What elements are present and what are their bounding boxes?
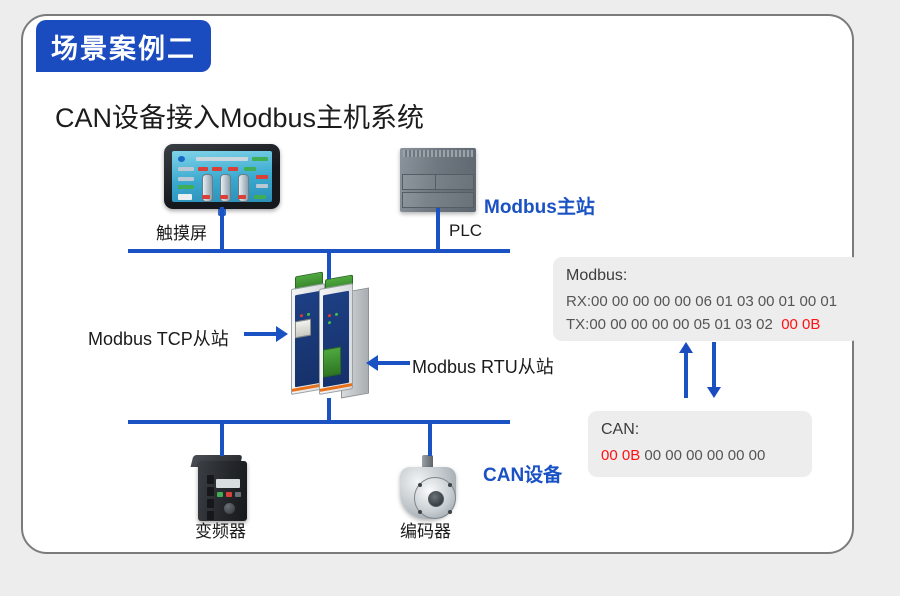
can-panel-title: CAN: — [601, 421, 799, 439]
upper-bus-line — [128, 249, 510, 253]
can-highlight: 00 0B — [601, 447, 640, 464]
lower-bus-line — [128, 420, 510, 424]
gateway-upper-drop-line — [327, 249, 331, 279]
encoder-label: 编码器 — [400, 517, 451, 542]
can-data-panel: CAN: 00 0B 00 00 00 00 00 00 — [588, 411, 812, 477]
modbus-tx-label: TX: — [566, 316, 589, 333]
gateway-lower-drop-line — [327, 398, 331, 422]
encoder-hub — [428, 491, 444, 507]
modbus-rx-row: RX:00 00 00 00 00 06 01 03 00 01 00 01 — [566, 290, 847, 313]
rtu-arrow-head-icon — [366, 355, 378, 371]
can-value: 00 00 00 00 00 00 — [644, 447, 765, 464]
tcp-arrow-shaft — [244, 332, 278, 336]
modbus-panel-title: Modbus: — [566, 267, 847, 285]
vfd-drive-icon — [192, 455, 247, 521]
scenario-badge-label: 场景案例二 — [51, 27, 196, 66]
rtu-arrow-shaft — [378, 361, 410, 365]
rotary-encoder-icon — [398, 455, 462, 521]
plc-module-icon — [400, 148, 476, 212]
plc-drop-line — [436, 208, 440, 251]
plc-vent — [403, 150, 473, 157]
protocol-gateway-icon — [283, 276, 375, 402]
scenario-badge: 场景案例二 — [36, 20, 211, 72]
modbus-data-panel: Modbus: RX:00 00 00 00 00 06 01 03 00 01… — [553, 257, 860, 341]
modbus-rx-value: 00 00 00 00 00 06 01 03 00 01 00 01 — [591, 293, 837, 310]
modbus-rtu-slave-annotation: Modbus RTU从站 — [412, 353, 554, 379]
modbus-master-annotation: Modbus主站 — [484, 192, 595, 219]
vfd-display — [216, 479, 240, 488]
encoder-drop-line — [428, 420, 432, 456]
gateway-field-connector — [323, 346, 341, 377]
gateway-module-2 — [319, 283, 353, 395]
page-title: CAN设备接入Modbus主机系统 — [55, 96, 424, 135]
up-arrow-shaft — [684, 352, 688, 398]
vfd-drop-line — [220, 420, 224, 456]
plc-label: PLC — [449, 221, 482, 241]
can-data-row: 00 0B 00 00 00 00 00 00 — [601, 444, 799, 467]
modbus-tx-row: TX:00 00 00 00 00 05 01 03 02 00 0B — [566, 313, 847, 336]
modbus-tx-highlight: 00 0B — [781, 316, 820, 333]
hmi-screen — [172, 151, 272, 202]
arrow-up-icon — [679, 342, 693, 353]
hmi-drop-line — [220, 207, 224, 251]
modbus-tx-value: 00 00 00 00 00 05 01 03 02 — [589, 316, 773, 333]
down-arrow-shaft — [712, 342, 716, 388]
arrow-down-icon — [707, 387, 721, 398]
vfd-knob — [224, 503, 235, 514]
can-device-annotation: CAN设备 — [483, 460, 562, 487]
vfd-body — [198, 461, 247, 521]
hmi-touch-panel-icon — [164, 144, 280, 209]
hmi-label: 触摸屏 — [156, 219, 207, 244]
modbus-rx-label: RX: — [566, 293, 591, 310]
vfd-label: 变频器 — [195, 517, 246, 542]
tcp-arrow-head-icon — [276, 326, 288, 342]
modbus-tcp-slave-annotation: Modbus TCP从站 — [88, 325, 229, 351]
gateway-ethernet-port — [295, 319, 311, 339]
